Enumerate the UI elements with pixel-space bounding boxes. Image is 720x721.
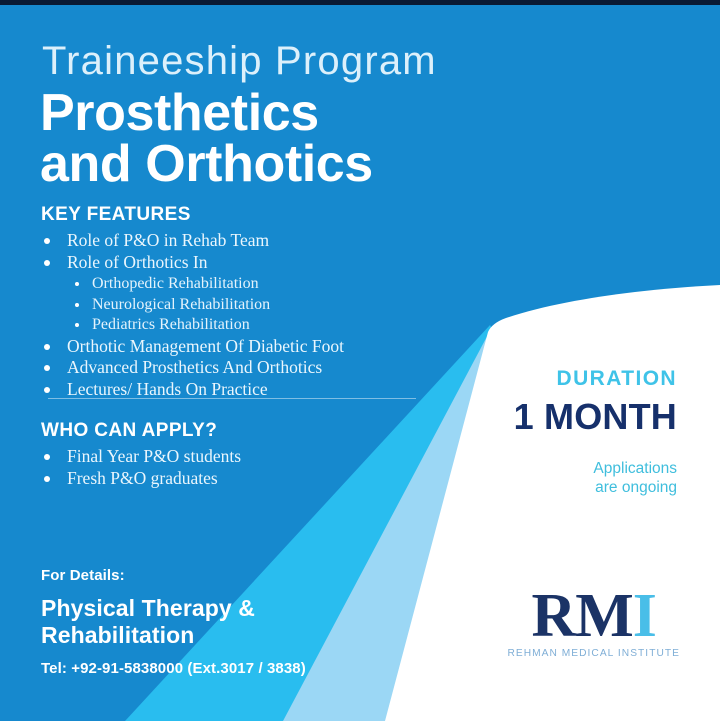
sub-list-item-label: Pediatrics Rehabilitation	[92, 316, 250, 333]
list-item: Role of Orthotics In Orthopedic Rehabili…	[41, 252, 344, 336]
list-item: Advanced Prosthetics And Orthotics	[41, 357, 344, 379]
rmi-logo: RMI REHMAN MEDICAL INSTITUTE	[507, 588, 680, 659]
list-item: Final Year P&O students	[41, 446, 241, 468]
list-item-label: Advanced Prosthetics And Orthotics	[67, 357, 322, 377]
key-features-heading: KEY FEATURES	[41, 204, 191, 226]
list-item: Orthotic Management Of Diabetic Foot	[41, 336, 344, 358]
headline-line-2: and Orthotics	[40, 139, 373, 190]
applications-status-note: Applications are ongoing	[593, 459, 677, 497]
list-item-label: Lectures/ Hands On Practice	[67, 379, 268, 399]
applications-note-line-1: Applications	[593, 460, 677, 477]
who-can-apply-heading: WHO CAN APPLY?	[41, 420, 217, 442]
sub-list-item: Orthopedic Rehabilitation	[71, 274, 344, 295]
left-content-column: Traineeship Program Prosthetics and Orth…	[0, 0, 470, 721]
page-title: Prosthetics and Orthotics	[40, 88, 373, 190]
bullet-dot-icon	[44, 476, 50, 482]
duration-label: DURATION	[557, 367, 677, 391]
department-name: Physical Therapy & Rehabilitation	[41, 595, 306, 649]
department-line-1: Physical Therapy &	[41, 595, 255, 621]
list-item: Role of P&O in Rehab Team	[41, 230, 344, 252]
list-item-label: Role of Orthotics In	[67, 252, 207, 272]
bullet-dot-icon	[44, 344, 50, 350]
list-item: Lectures/ Hands On Practice	[41, 379, 344, 401]
program-kicker: Traineeship Program	[42, 40, 437, 82]
list-item-label: Role of P&O in Rehab Team	[67, 230, 269, 250]
poster-canvas: Traineeship Program Prosthetics and Orth…	[0, 0, 720, 721]
bullet-dot-icon	[44, 260, 50, 266]
sub-list-item: Pediatrics Rehabilitation	[71, 315, 344, 336]
rmi-tagline: REHMAN MEDICAL INSTITUTE	[507, 648, 680, 659]
who-can-apply-list: Final Year P&O students Fresh P&O gradua…	[41, 446, 241, 489]
list-item: Fresh P&O graduates	[41, 468, 241, 490]
duration-value: 1 MONTH	[514, 396, 677, 438]
section-divider	[48, 398, 416, 399]
department-line-2: Rehabilitation	[41, 622, 306, 649]
rmi-wordmark-accent: I	[633, 582, 656, 650]
headline-line-1: Prosthetics	[40, 84, 319, 142]
for-details-label: For Details:	[41, 567, 306, 584]
contact-block: For Details: Physical Therapy & Rehabili…	[41, 567, 306, 677]
bullet-dot-small-icon	[75, 323, 79, 327]
rmi-wordmark-dark: RM	[532, 582, 633, 650]
key-features-sub-list: Orthopedic Rehabilitation Neurological R…	[67, 274, 344, 336]
top-accent-strip	[0, 0, 720, 5]
bullet-dot-icon	[44, 387, 50, 393]
list-item-label: Fresh P&O graduates	[67, 468, 218, 488]
right-info-panel: DURATION 1 MONTH Applications are ongoin…	[420, 0, 720, 721]
bullet-dot-icon	[44, 365, 50, 371]
phone-number: Tel: +92-91-5838000 (Ext.3017 / 3838)	[41, 660, 306, 677]
rmi-wordmark: RMI	[507, 588, 680, 645]
bullet-dot-icon	[44, 454, 50, 460]
sub-list-item-label: Neurological Rehabilitation	[92, 296, 270, 313]
list-item-label: Final Year P&O students	[67, 446, 241, 466]
sub-list-item-label: Orthopedic Rehabilitation	[92, 275, 259, 292]
sub-list-item: Neurological Rehabilitation	[71, 295, 344, 316]
bullet-dot-small-icon	[75, 282, 79, 286]
bullet-dot-small-icon	[75, 303, 79, 307]
key-features-list: Role of P&O in Rehab Team Role of Orthot…	[41, 230, 344, 400]
bullet-dot-icon	[44, 238, 50, 244]
applications-note-line-2: are ongoing	[593, 478, 677, 497]
list-item-label: Orthotic Management Of Diabetic Foot	[67, 336, 344, 356]
